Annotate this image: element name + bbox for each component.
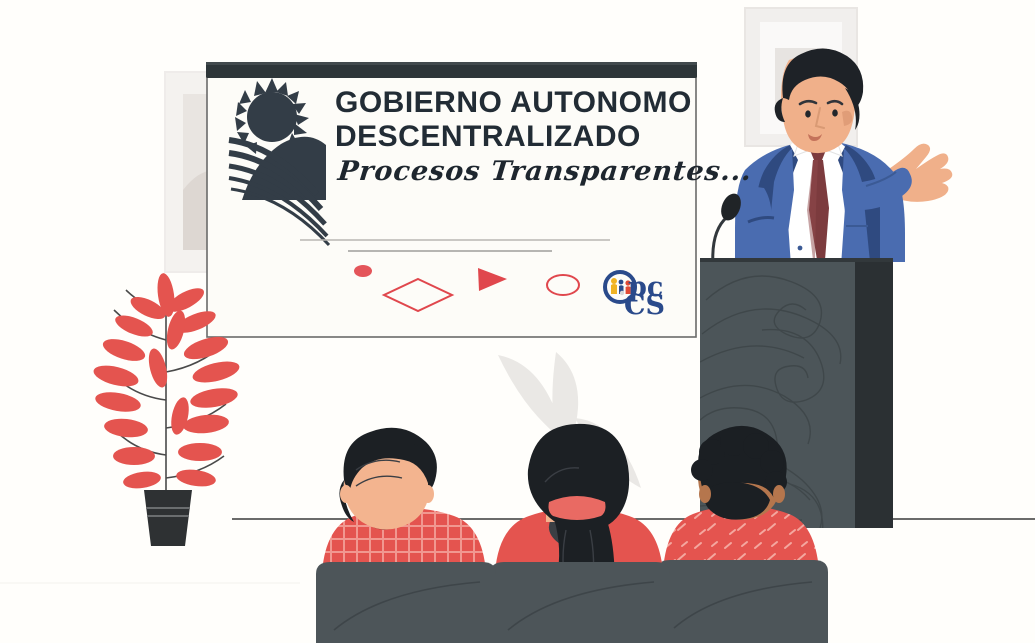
audience-center-chair [490, 562, 670, 643]
audience-center-hair-tie [549, 496, 606, 520]
audience-right-chair [656, 560, 828, 643]
plant-pot [144, 490, 192, 546]
slide-title-line1: GOBIERNO AUTONOMO [335, 88, 692, 118]
red-filled-ellipse [354, 265, 372, 277]
cpccs-text-cs: CS [624, 292, 665, 319]
slide-title-line2: DESCENTRALIZADO [335, 122, 641, 152]
sun-disc [247, 92, 297, 142]
slide-tagline: Procesos Transparentes... [337, 158, 754, 185]
podium-side [855, 262, 893, 528]
audience-left-chair [316, 562, 496, 643]
illustration-canvas: GOBIERNO AUTONOMO DESCENTRALIZADO Proces… [0, 0, 1035, 643]
